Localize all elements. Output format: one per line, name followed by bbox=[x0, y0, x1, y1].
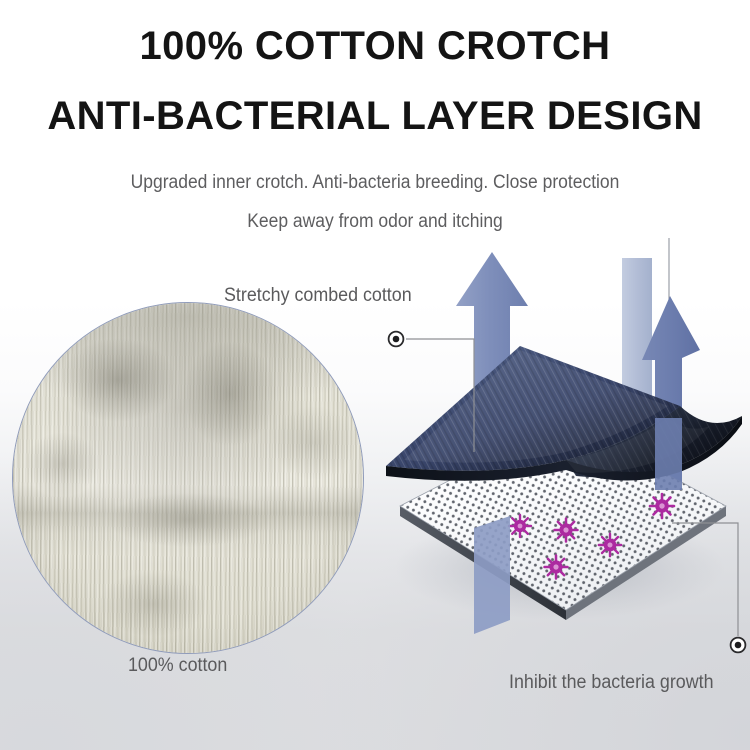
page-title-line-2: ANTI-BACTERIAL LAYER DESIGN bbox=[0, 96, 750, 136]
page-title-line-2-text: ANTI-BACTERIAL LAYER DESIGN bbox=[47, 94, 702, 138]
bacteria-icon bbox=[555, 519, 578, 542]
subtitle-line-1: Upgraded inner crotch. Anti-bacteria bre… bbox=[30, 172, 720, 194]
callout-label-stretchy-combed-cotton: Stretchy combed cotton bbox=[224, 285, 412, 307]
bacteria-icon bbox=[599, 534, 621, 556]
cotton-fabric-photo bbox=[13, 303, 363, 653]
page-title-line-1-text: 100% COTTON CROTCH bbox=[140, 24, 611, 68]
breathability-arrow-left-lower bbox=[474, 516, 510, 634]
bacteria-icon bbox=[545, 556, 568, 579]
subtitle-line-2: Keep away from odor and itching bbox=[30, 211, 720, 233]
breathability-arrow-right-front bbox=[655, 418, 682, 490]
bacteria-icon bbox=[509, 515, 531, 537]
bacteria-icon bbox=[650, 494, 674, 518]
cotton-photo-circle bbox=[12, 302, 364, 654]
callout-label-inhibit-bacteria-growth: Inhibit the bacteria growth bbox=[509, 672, 714, 694]
infographic-page: 100% COTTON CROTCH ANTI-BACTERIAL LAYER … bbox=[0, 0, 750, 750]
page-title-line-1: 100% COTTON CROTCH bbox=[0, 26, 750, 66]
anti-bacterial-layer-diagram bbox=[370, 238, 750, 648]
callout-label-cotton-photo: 100% cotton bbox=[128, 655, 227, 677]
